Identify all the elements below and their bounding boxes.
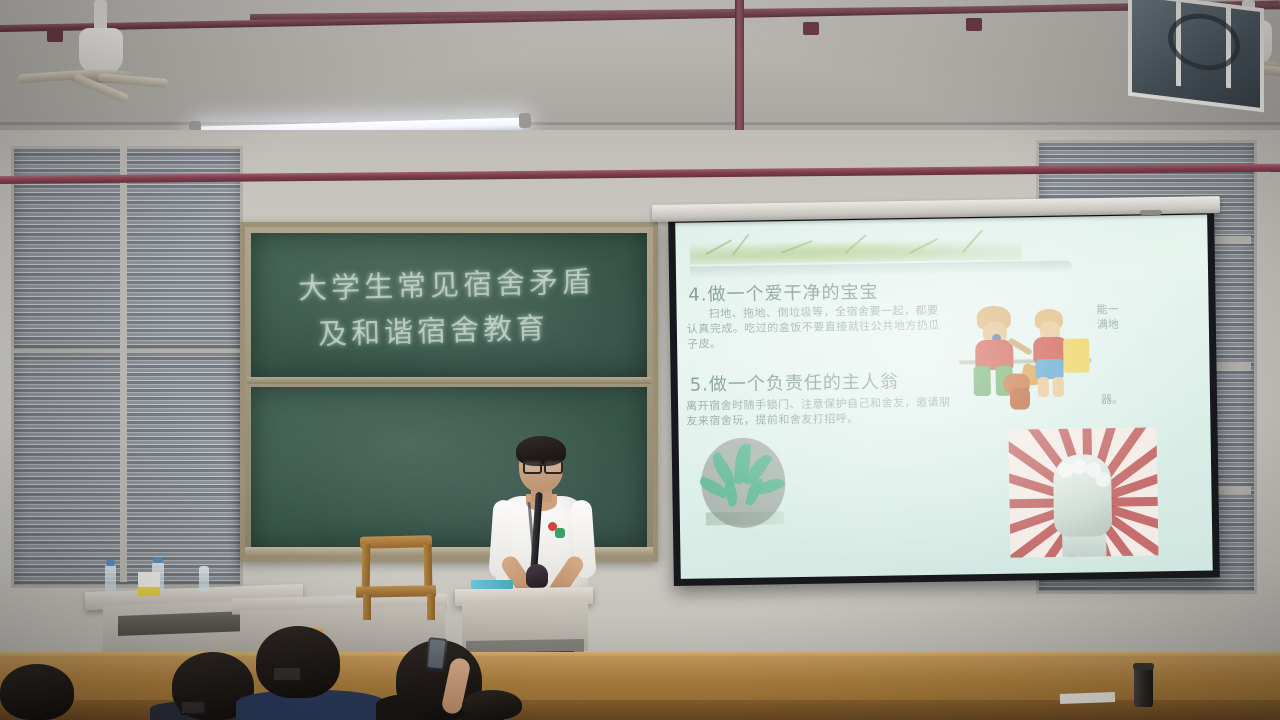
microphone-head <box>526 564 548 588</box>
water-bottle-1 <box>105 564 116 592</box>
speaker-glasses-left <box>523 460 542 474</box>
slide-side-text-1: 能一 满地 <box>1097 302 1119 332</box>
blackboard-divider <box>247 377 651 384</box>
slide-side-text-2: 器。 <box>1101 392 1123 407</box>
slide-heading-5: 5.做一个负责任的主人翁 <box>690 367 900 396</box>
classroom-photo-scene: 大学生常见宿舍矛盾 及和谐宿舍教育 4.做一个爱干净的宝宝 扫地、拖地、倒垃圾等… <box>0 0 1280 720</box>
slide-heading-4: 4.做一个爱干净的宝宝 <box>688 278 879 307</box>
tube-cap-right <box>519 113 531 128</box>
louver-mullion-left <box>120 146 127 582</box>
projector-screen-pull-knob[interactable] <box>1140 210 1162 215</box>
white-paper-sheet <box>1060 692 1115 704</box>
clipart-plant-logo <box>701 437 786 534</box>
pipe-joint-left <box>803 22 819 35</box>
slide-header-grass-motif <box>689 233 1021 264</box>
lectern-label-tag <box>471 580 513 589</box>
tumbler-lid <box>1133 663 1154 670</box>
louver-panel-bottom-left <box>11 350 243 588</box>
pipe-joint-far-left <box>47 29 63 42</box>
speaker-glasses-right <box>544 460 563 474</box>
pipe-joint-right <box>966 18 982 31</box>
water-bottle-cap-2 <box>153 557 163 563</box>
slide-body-4: 扫地、拖地、倒垃圾等，全宿舍要一起，都要认真完成。吃过的盒饭不要直接就往公共地方… <box>687 303 950 352</box>
dark-tumbler <box>1134 667 1153 707</box>
projected-slide: 4.做一个爱干净的宝宝 扫地、拖地、倒垃圾等，全宿舍要一起，都要认真完成。吃过的… <box>675 215 1213 579</box>
ceiling <box>0 0 1280 132</box>
tshirt-logo-icon <box>548 522 565 539</box>
water-bottle-cap-1 <box>106 560 115 566</box>
water-bottle-3 <box>199 566 209 592</box>
clipart-children-cleaning <box>959 302 1093 416</box>
yellow-label-container <box>138 572 160 596</box>
slide-body-5: 离开宿舍时随手锁门、注意保护自己和舍友，邀请朋友来宿舍玩，提前和舍友打招呼。 <box>686 395 954 429</box>
clipart-raised-fist-poster <box>1008 427 1158 557</box>
audience-phone-screen <box>428 639 446 668</box>
projection-screen: 4.做一个爱干净的宝宝 扫地、拖地、倒垃圾等，全宿舍要一起，都要认真完成。吃过的… <box>668 207 1220 586</box>
blackboard-title-line2: 及和谐宿舍教育 <box>317 305 549 353</box>
blackboard-title-line1: 大学生常见宿舍矛盾 <box>298 258 596 307</box>
